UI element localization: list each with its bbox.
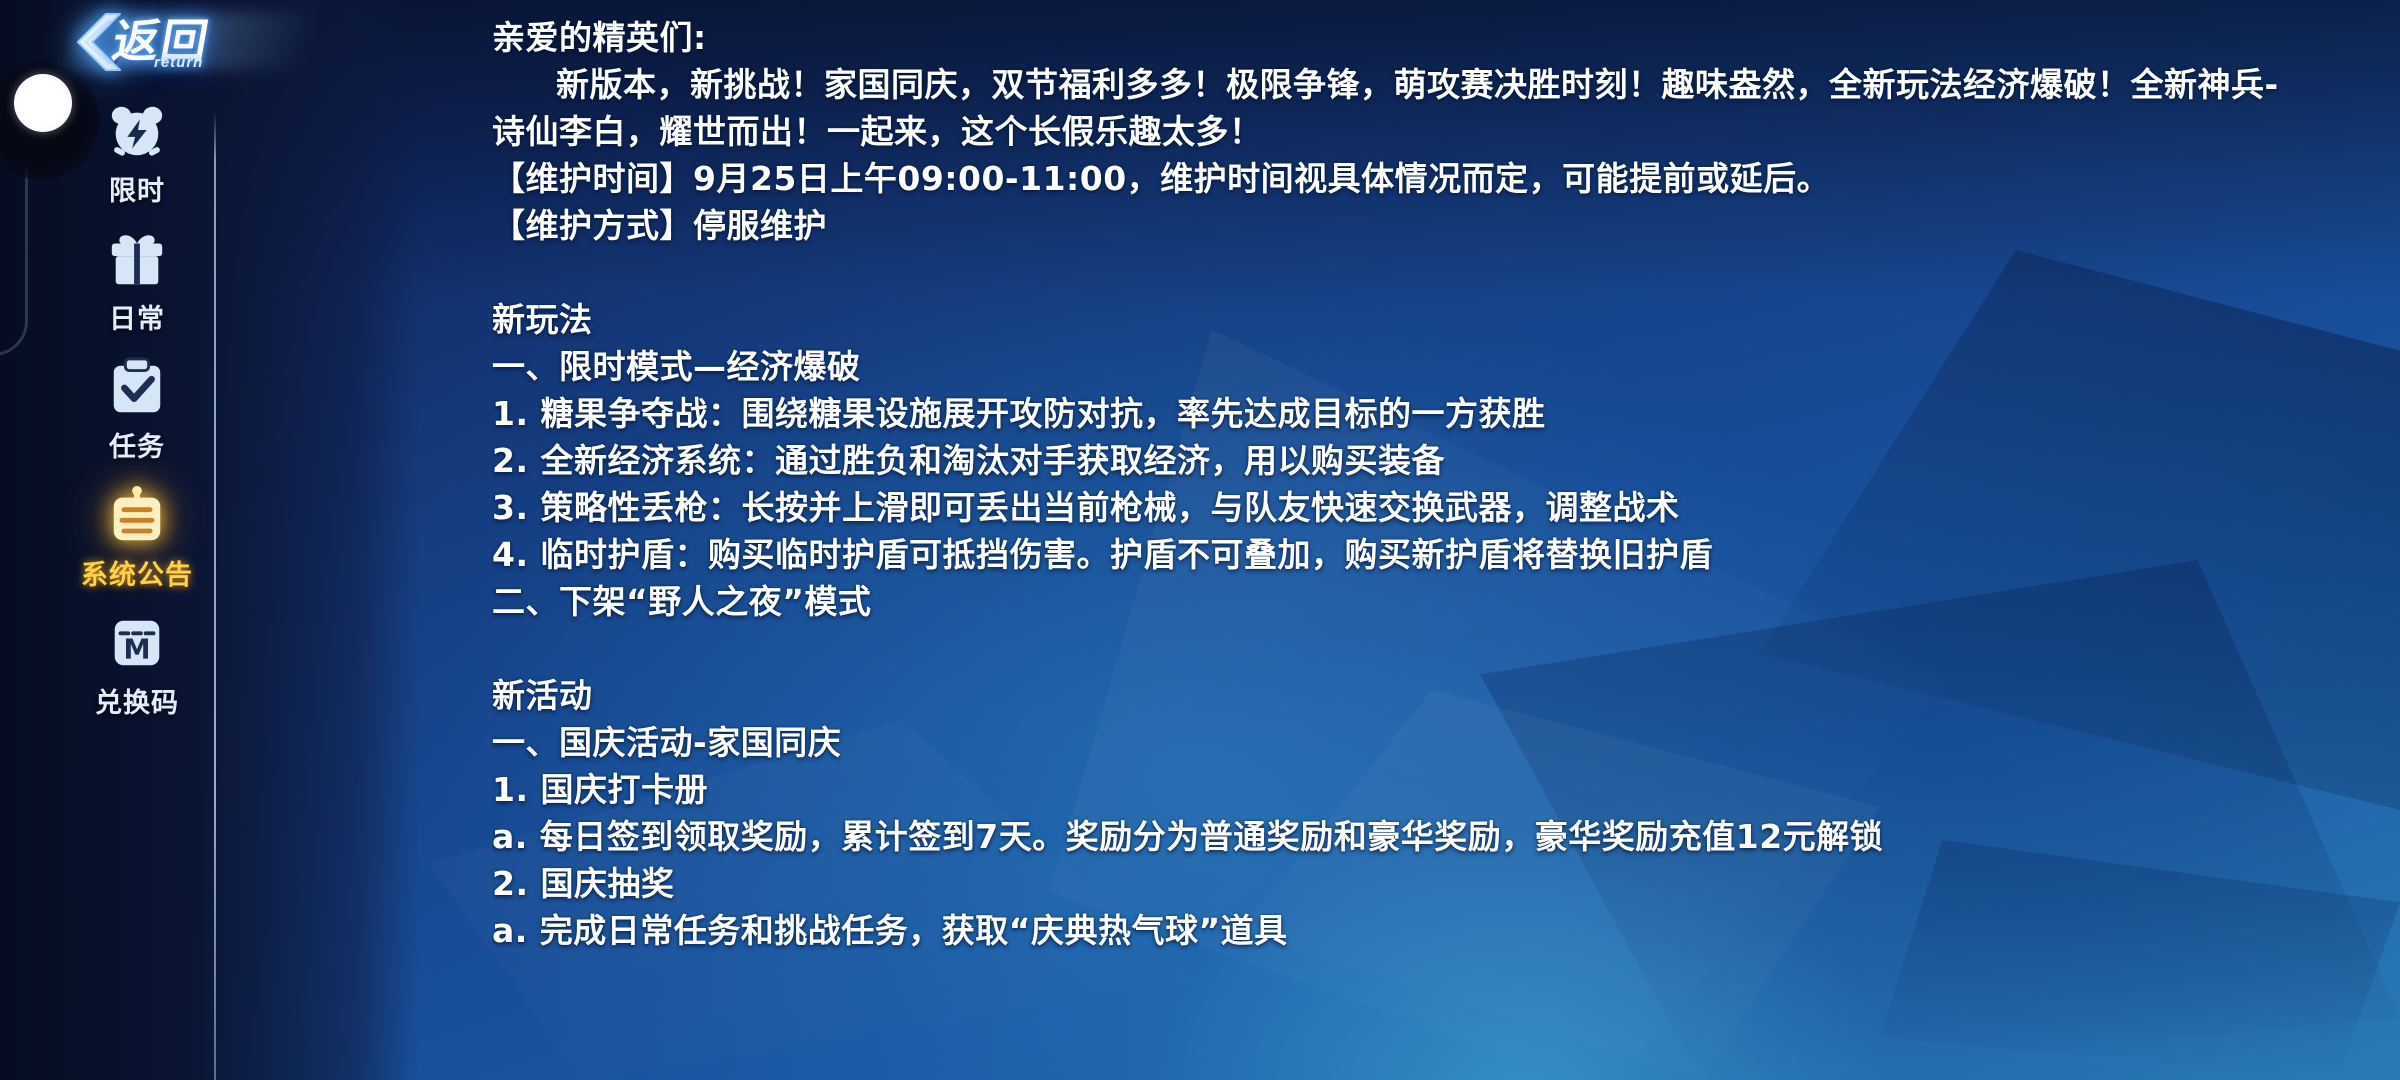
clipboard-check-icon [106, 356, 168, 418]
sidebar-item-announcement[interactable]: 系统公告 [60, 484, 214, 592]
activity-item-2a: a. 完成日常任务和挑战任务，获取“庆典热气球”道具 [492, 907, 2400, 954]
activity-item-2: 2. 国庆抽奖 [492, 860, 2400, 907]
maintenance-time-line: 【维护时间】9月25日上午09:00-11:00，维护时间视具体情况而定，可能提… [492, 155, 2400, 202]
intro-paragraph: 新版本，新挑战！家国同庆，双节福利多多！极限争锋，萌攻赛决胜时刻！趣味盎然，全新… [492, 61, 2282, 155]
maintenance-method-line: 【维护方式】停服维护 [492, 202, 2400, 249]
sidebar-item-label: 系统公告 [81, 553, 193, 592]
spacer-2 [492, 625, 2400, 672]
announcement-content[interactable]: 亲爱的精英们: 新版本，新挑战！家国同庆，双节福利多多！极限争锋，萌攻赛决胜时刻… [492, 0, 2400, 1080]
activity-heading-1: 一、国庆活动-家国同庆 [492, 719, 2400, 766]
sidebar-item-label: 兑换码 [95, 681, 179, 720]
alarm-clock-icon [106, 100, 168, 162]
announcement-icon [106, 484, 168, 546]
spacer-1 [492, 249, 2400, 296]
greeting-line: 亲爱的精英们: [492, 14, 2400, 61]
redeem-code-icon: M [106, 612, 168, 674]
sidebar-nav: 限时 日常 [60, 100, 214, 980]
back-button[interactable]: 返回 return [58, 2, 308, 98]
sidebar-item-label: 任务 [109, 425, 165, 464]
activity-item-1a: a. 每日签到领取奖励，累计签到7天。奖励分为普通奖励和豪华奖励，豪华奖励充值1… [492, 813, 2400, 860]
svg-text:M: M [124, 635, 151, 666]
gameplay-item-1: 1. 糖果争夺战：围绕糖果设施展开攻防对抗，率先达成目标的一方获胜 [492, 390, 2400, 437]
sidebar-item-label: 日常 [109, 297, 165, 336]
gameplay-heading-2: 二、下架“野人之夜”模式 [492, 578, 2400, 625]
back-button-sublabel: return [154, 54, 203, 71]
section-title-activity: 新活动 [492, 672, 2400, 719]
gameplay-item-3: 3. 策略性丢枪：长按并上滑即可丢出当前枪械，与队友快速交换武器，调整战术 [492, 484, 2400, 531]
gameplay-heading-1: 一、限时模式—经济爆破 [492, 343, 2400, 390]
announcement-screen: 返回 return 限时 [0, 0, 2400, 1080]
gameplay-item-2: 2. 全新经济系统：通过胜负和淘汰对手获取经济，用以购买装备 [492, 437, 2400, 484]
sidebar-item-limited-time[interactable]: 限时 [60, 100, 214, 208]
gameplay-item-4: 4. 临时护盾：购买临时护盾可抵挡伤害。护盾不可叠加，购买新护盾将替换旧护盾 [492, 531, 2400, 578]
gift-box-icon [106, 228, 168, 290]
sidebar-item-tasks[interactable]: 任务 [60, 356, 214, 464]
sidebar-item-daily[interactable]: 日常 [60, 228, 214, 336]
announcement-body: 亲爱的精英们: 新版本，新挑战！家国同庆，双节福利多多！极限争锋，萌攻赛决胜时刻… [492, 0, 2400, 954]
sidebar-item-label: 限时 [109, 169, 165, 208]
activity-item-1: 1. 国庆打卡册 [492, 766, 2400, 813]
sidebar-item-redeem-code[interactable]: M 兑换码 [60, 612, 214, 720]
section-title-gameplay: 新玩法 [492, 296, 2400, 343]
sidebar-divider [214, 112, 216, 1080]
